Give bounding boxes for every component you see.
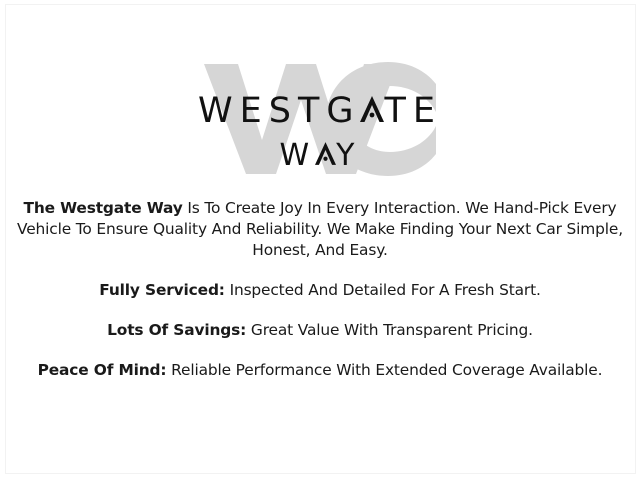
brand-name-primary-part2: TE: [384, 94, 442, 129]
about-copy: The Westgate Way Is To Create Joy In Eve…: [14, 198, 626, 381]
copy-lead-intro: The Westgate Way: [24, 199, 183, 217]
brand-name-secondary-part2: Y: [336, 141, 360, 171]
copy-rest-peace-of-mind: Reliable Performance With Extended Cover…: [166, 361, 602, 379]
brand-wordmark: WESTG TE W Y: [0, 58, 640, 180]
brand-name-primary: WESTG TE: [198, 94, 442, 129]
brand-name-secondary-part1: W: [280, 141, 316, 171]
copy-lead-peace-of-mind: Peace Of Mind:: [38, 361, 167, 379]
copy-lead-lots-of-savings: Lots Of Savings:: [107, 321, 246, 339]
copy-paragraph-lots-of-savings: Lots Of Savings: Great Value With Transp…: [14, 320, 626, 341]
brand-logo: WESTG TE W Y: [0, 58, 640, 180]
dealer-about-panel: WESTG TE W Y The Westgate Way Is To C: [0, 0, 640, 480]
copy-lead-fully-serviced: Fully Serviced:: [99, 281, 225, 299]
brand-name-secondary: W Y: [280, 141, 361, 171]
copy-paragraph-fully-serviced: Fully Serviced: Inspected And Detailed F…: [14, 280, 626, 301]
copy-paragraph-intro: The Westgate Way Is To Create Joy In Eve…: [14, 198, 626, 261]
copy-rest-lots-of-savings: Great Value With Transparent Pricing.: [246, 321, 533, 339]
letter-a-dotted-icon: [315, 142, 336, 165]
brand-name-primary-part1: WESTG: [198, 94, 360, 129]
copy-rest-fully-serviced: Inspected And Detailed For A Fresh Start…: [225, 281, 541, 299]
copy-paragraph-peace-of-mind: Peace Of Mind: Reliable Performance With…: [14, 360, 626, 381]
letter-a-dotted-icon: [360, 96, 384, 122]
